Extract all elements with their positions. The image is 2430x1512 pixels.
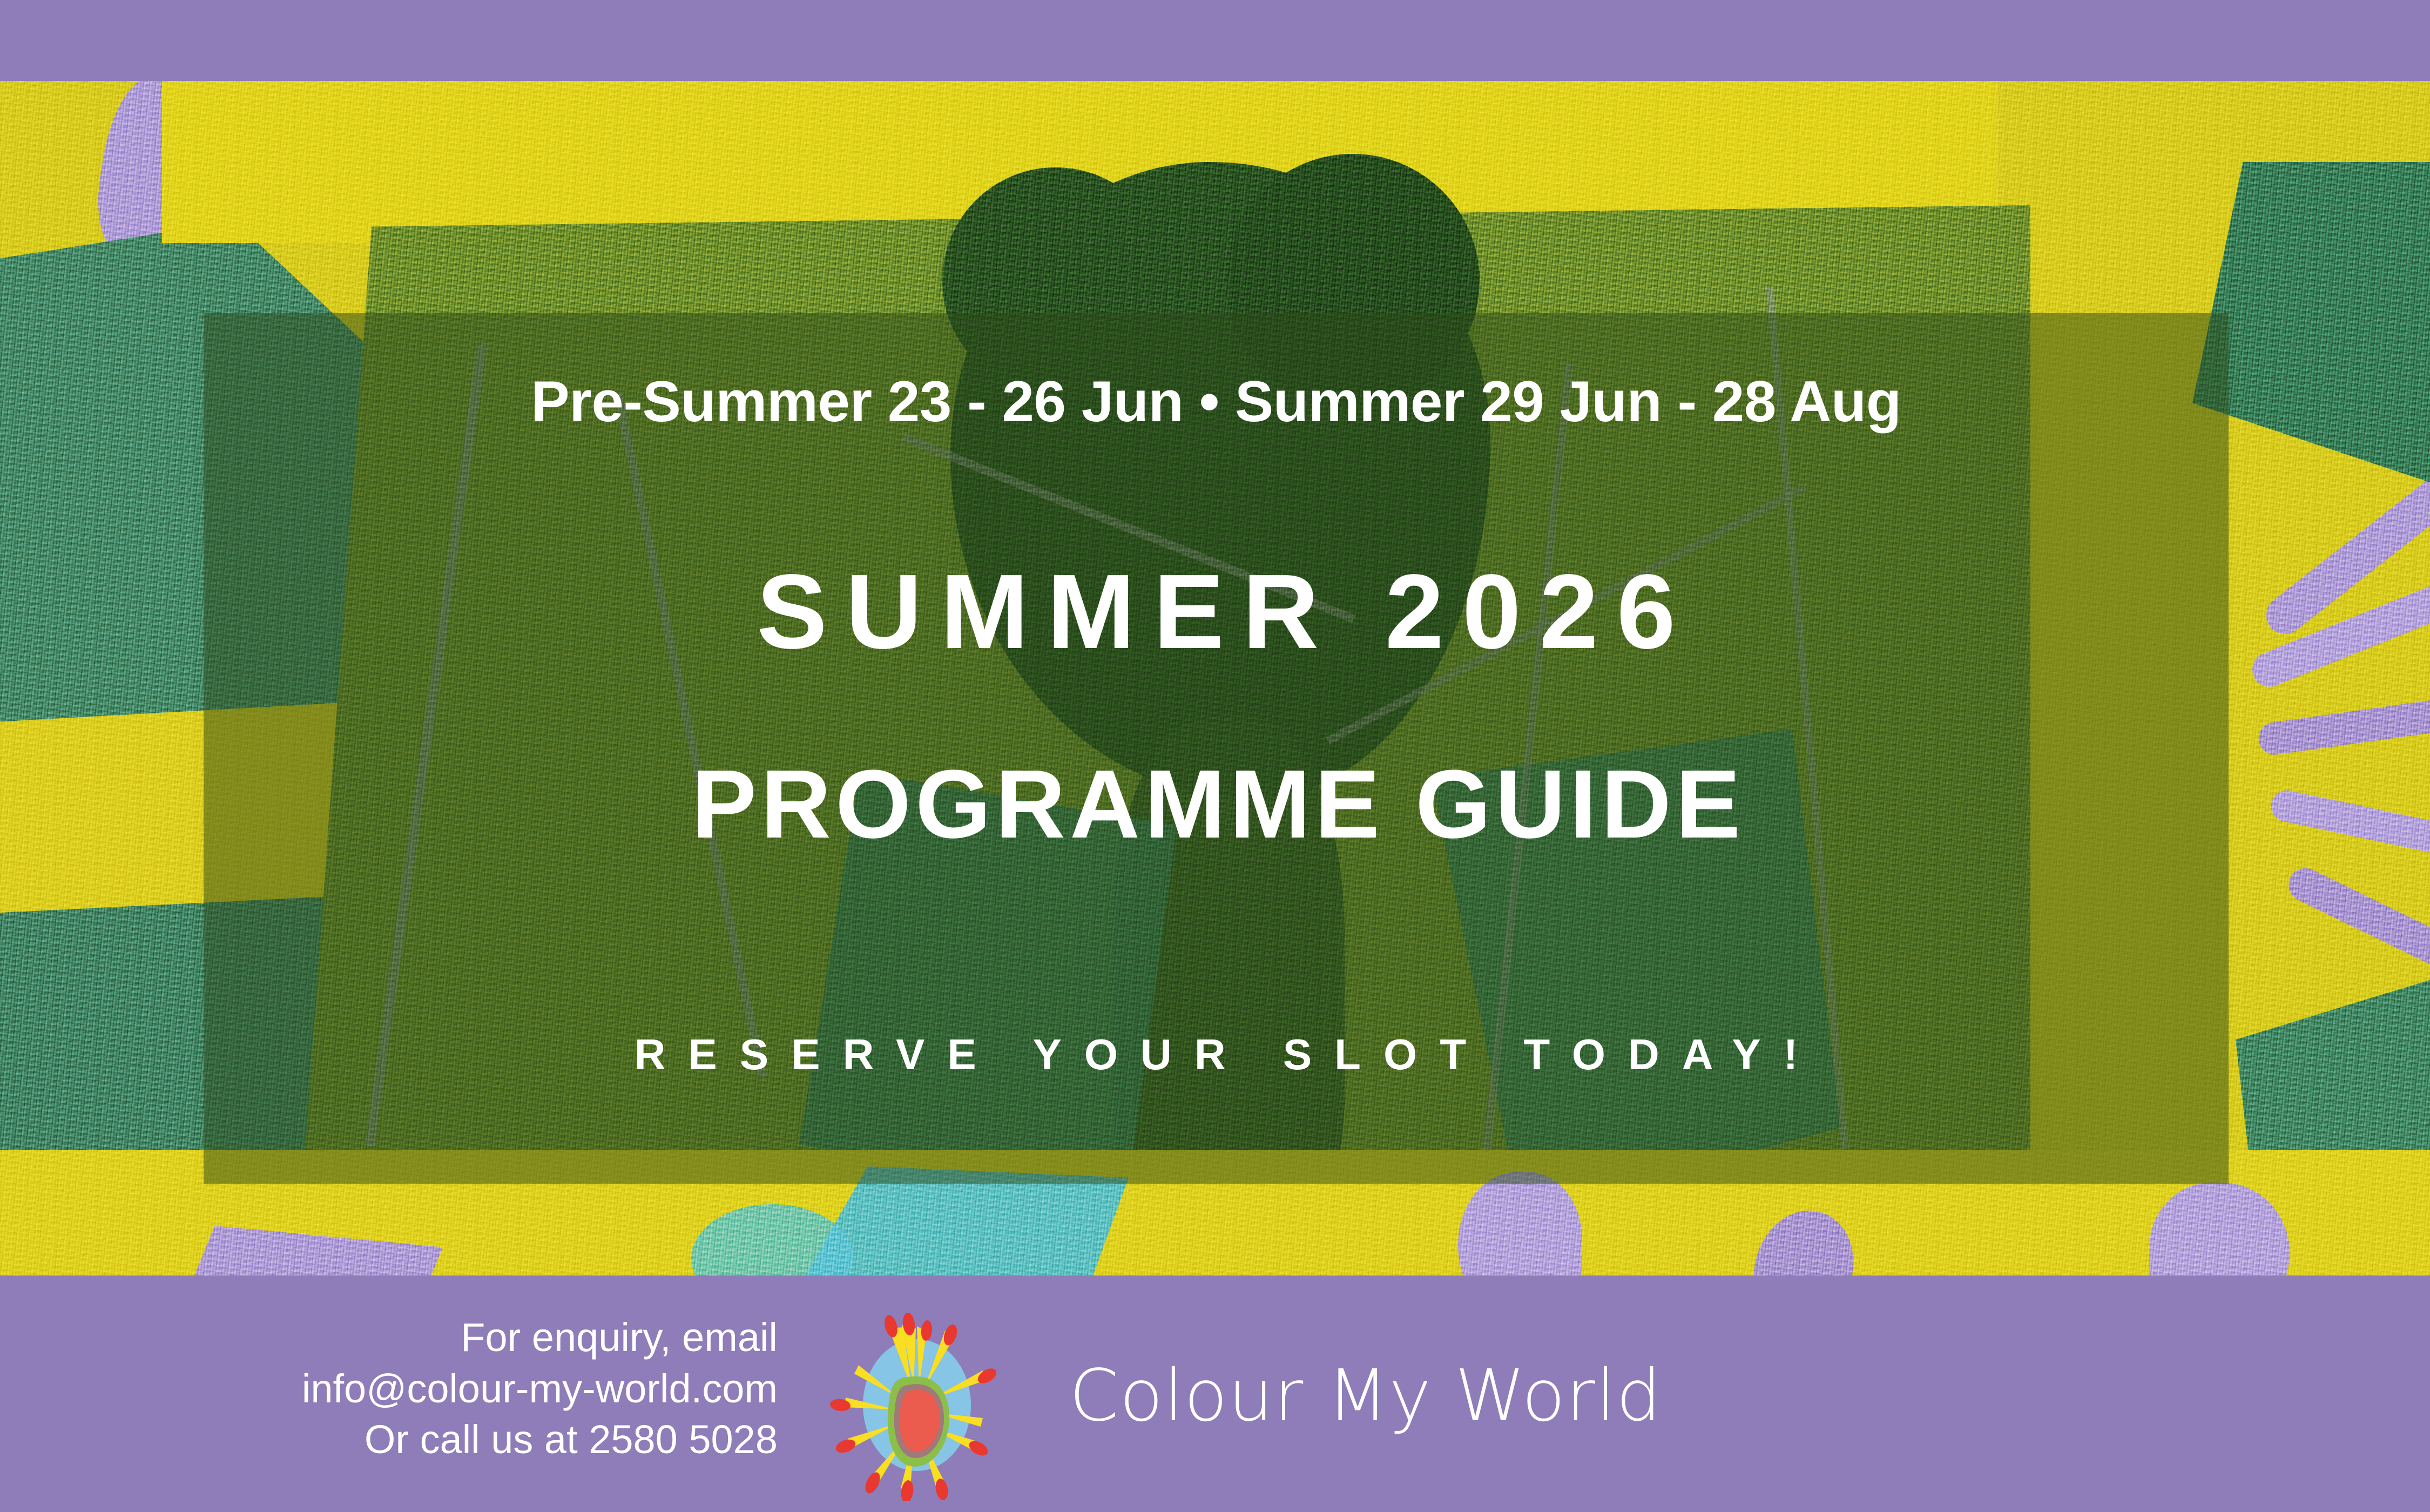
promo-poster: Pre-Summer 23 - 26 Jun • Summer 29 Jun -… xyxy=(0,0,2430,1512)
brand-lockup: Colour My World xyxy=(810,1296,1728,1512)
page-title-line-1: SUMMER 2026 xyxy=(204,559,2229,665)
contact-line-enquiry: For enquiry, email xyxy=(0,1312,778,1363)
brand-wordmark: Colour My World xyxy=(1069,1354,1662,1437)
programme-dates: Pre-Summer 23 - 26 Jun • Summer 29 Jun -… xyxy=(204,373,2229,430)
sunburst-flower-icon xyxy=(821,1307,1026,1501)
contact-block: For enquiry, email info@colour-my-world.… xyxy=(0,1312,778,1466)
cta-text: RESERVE YOUR SLOT TODAY! xyxy=(204,1033,2229,1076)
contact-phone[interactable]: Or call us at 2580 5028 xyxy=(0,1414,778,1466)
contact-email[interactable]: info@colour-my-world.com xyxy=(0,1363,778,1415)
page-title-line-2: PROGRAMME GUIDE xyxy=(204,756,2229,853)
